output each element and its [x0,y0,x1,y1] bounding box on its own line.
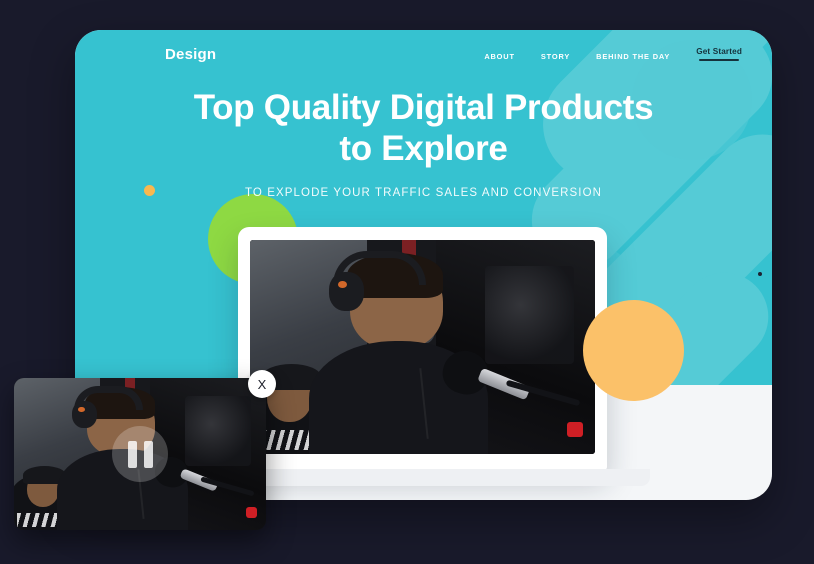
pause-icon[interactable] [112,426,168,482]
page-title: Top Quality Digital Products to Explore [75,88,772,170]
pause-bar-right [144,441,153,468]
laptop-mockup [238,227,607,470]
subheadline: TO EXPLODE YOUR TRAFFIC SALES AND CONVER… [75,187,772,199]
headphone-earcup [329,272,364,311]
get-started-button[interactable]: Get Started [696,47,742,61]
get-started-label: Get Started [696,47,742,56]
headline-line-2: to Explore [339,129,507,168]
pause-bar-left [128,441,137,468]
pip-headphone-earcup [72,401,97,428]
nav-links: ABOUT STORY BEHIND THE DAY Get Started [484,47,742,61]
navbar: Design ABOUT STORY BEHIND THE DAY Get St… [75,30,772,78]
laptop-screen[interactable] [250,240,595,454]
record-indicator-icon [567,422,583,437]
hero-copy: Top Quality Digital Products to Explore … [75,88,772,199]
pip-video-player[interactable] [14,378,266,530]
headline-line-1: Top Quality Digital Products [194,88,654,127]
orange-dot-decoration [144,185,155,196]
pip-headphone-accent [78,407,85,412]
scene-wall-poster [485,266,575,364]
headphone-accent [338,281,347,288]
laptop-lid [238,227,607,470]
pip-wall-poster [185,396,251,466]
nav-link-story[interactable]: STORY [541,52,570,61]
get-started-underline [699,59,739,61]
nav-link-behind-the-day[interactable]: BEHIND THE DAY [596,52,670,61]
tiny-dot-decoration [758,272,762,276]
nav-link-about[interactable]: ABOUT [484,52,515,61]
podcast-interview-video[interactable] [250,240,595,454]
close-icon[interactable]: X [248,370,276,398]
pip-record-indicator-icon [246,507,258,518]
orange-circle-decoration [583,300,684,401]
logo[interactable]: Design [165,46,216,63]
